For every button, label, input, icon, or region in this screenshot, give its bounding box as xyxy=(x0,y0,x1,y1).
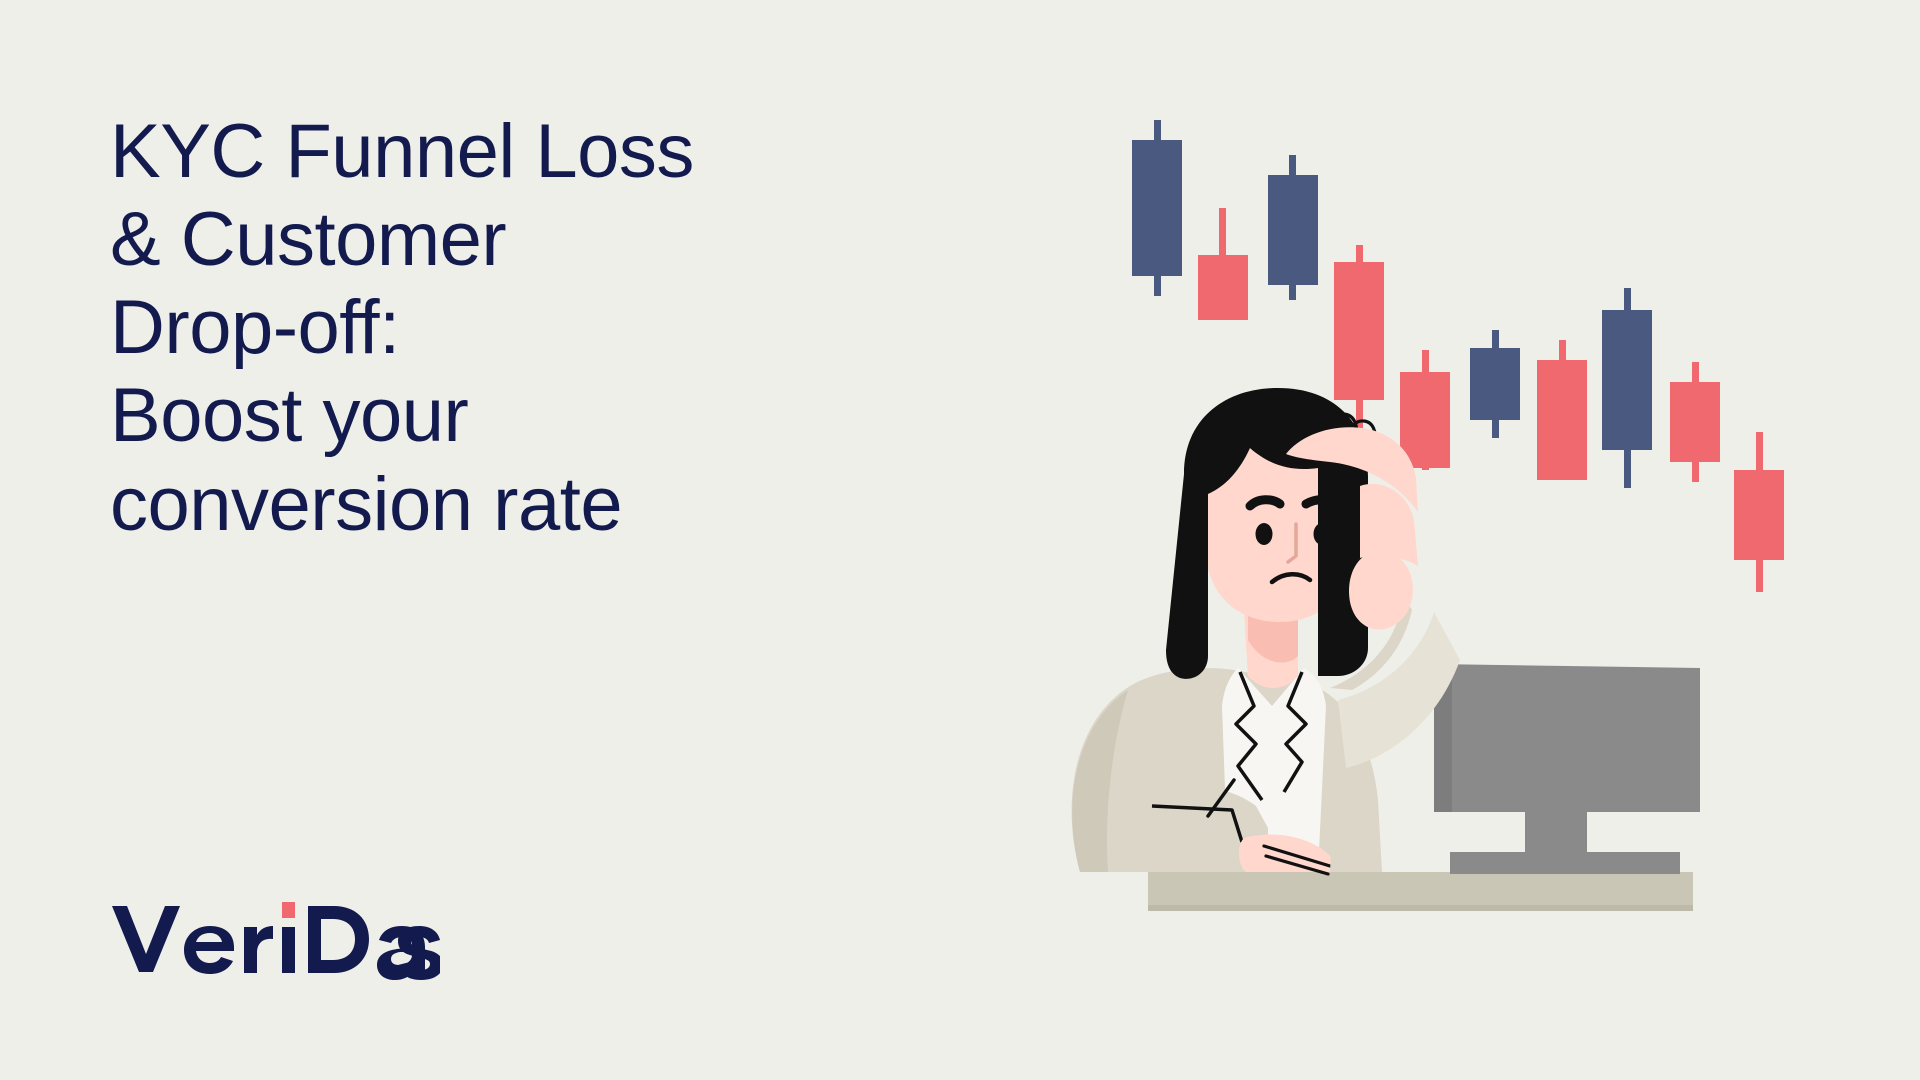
candle-4-down xyxy=(1334,245,1384,432)
illustration-svg xyxy=(880,0,1920,1080)
veridas-logo[interactable] xyxy=(110,890,440,980)
candle-3-up xyxy=(1268,155,1318,300)
candle-9-down xyxy=(1670,362,1720,482)
candle-8-up xyxy=(1602,288,1652,488)
page-title: KYC Funnel Loss & Customer Drop-off: Boo… xyxy=(110,108,910,549)
candle-5-down xyxy=(1400,350,1450,470)
veridas-logo-mark xyxy=(110,890,440,980)
person-illustration xyxy=(1072,388,1460,874)
candle-7-down xyxy=(1537,340,1587,480)
desk xyxy=(1148,872,1693,911)
logo-accent-dot xyxy=(282,902,295,918)
slide-canvas: KYC Funnel Loss & Customer Drop-off: Boo… xyxy=(0,0,1920,1080)
candle-1-up xyxy=(1132,120,1182,296)
illustration-worried-person-and-chart xyxy=(880,0,1920,1080)
computer-monitor xyxy=(1434,664,1700,874)
candle-6-up xyxy=(1470,330,1520,438)
candle-10-down xyxy=(1734,432,1784,592)
candle-2-down xyxy=(1198,208,1248,320)
